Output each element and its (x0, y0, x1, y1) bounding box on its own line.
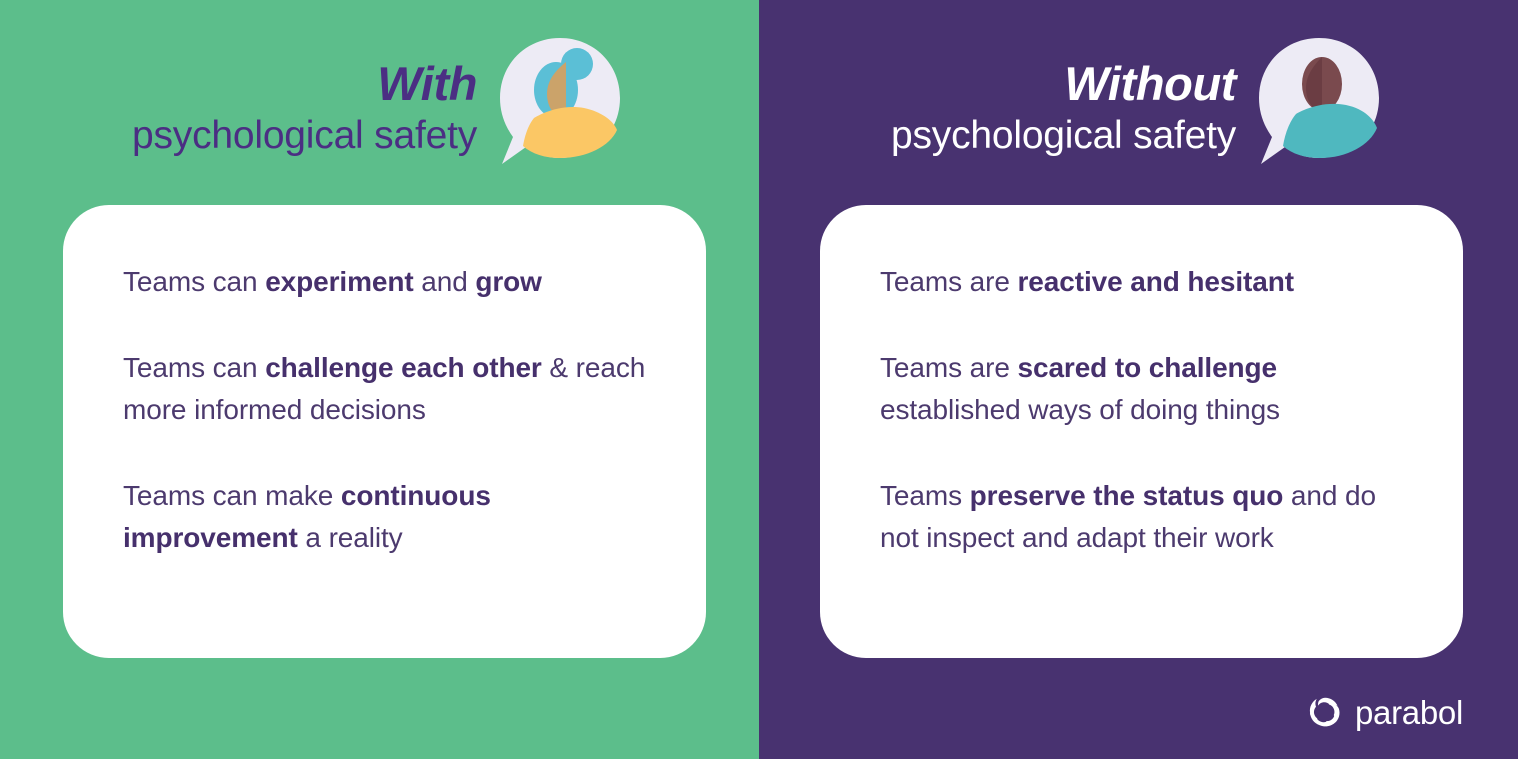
speech-bubble-avatar-icon (499, 38, 627, 166)
statement-emphasis: scared to challenge (1018, 352, 1278, 383)
panel-header-without: Without psychological safety (759, 38, 1518, 188)
statement-text: Teams can (123, 266, 265, 297)
infographic-canvas: With psychological safety Teams can expe… (0, 0, 1518, 759)
statement-emphasis: preserve the status quo (970, 480, 1284, 511)
panel-subtitle-with: psychological safety (132, 111, 477, 161)
panel-header-with: With psychological safety (0, 38, 759, 188)
statement-emphasis: challenge each other (265, 352, 542, 383)
parabol-pinwheel-icon (1308, 695, 1342, 729)
statement-text: Teams can (123, 352, 265, 383)
panel-header-text-without: Without psychological safety (891, 38, 1236, 161)
statement-text: Teams are (880, 266, 1018, 297)
statement-emphasis: grow (475, 266, 541, 297)
parabol-wordmark: parabol (1355, 696, 1463, 729)
speech-bubble-avatar-icon (1258, 38, 1386, 166)
panel-subtitle-without: psychological safety (891, 111, 1236, 161)
parabol-logo: parabol (1308, 695, 1463, 729)
panel-with-psychological-safety: With psychological safety Teams can expe… (0, 0, 759, 759)
card-content-with: Teams can experiment and grow Teams can … (63, 205, 706, 560)
card-without: Teams are reactive and hesitant Teams ar… (820, 205, 1463, 658)
statement-item: Teams preserve the status quo and do not… (880, 475, 1403, 560)
panel-title-without: Without (891, 56, 1236, 111)
statement-item: Teams can experiment and grow (123, 261, 646, 304)
panel-header-text-with: With psychological safety (132, 38, 477, 161)
statement-text: Teams can make (123, 480, 341, 511)
statement-emphasis: reactive and hesitant (1018, 266, 1294, 297)
statement-item: Teams can challenge each other & reach m… (123, 347, 646, 432)
statement-text: a reality (298, 522, 403, 553)
statement-text: and (414, 266, 476, 297)
statement-text: Teams are (880, 352, 1018, 383)
card-with: Teams can experiment and grow Teams can … (63, 205, 706, 658)
panel-without-psychological-safety: Without psychological safety Teams are r… (759, 0, 1518, 759)
statement-item: Teams can make continuous improvement a … (123, 475, 646, 560)
panel-title-with: With (132, 56, 477, 111)
statement-item: Teams are reactive and hesitant (880, 261, 1403, 304)
statement-item: Teams are scared to challenge establishe… (880, 347, 1403, 432)
statement-text: Teams (880, 480, 970, 511)
statement-emphasis: experiment (265, 266, 413, 297)
card-content-without: Teams are reactive and hesitant Teams ar… (820, 205, 1463, 560)
statement-text: established ways of doing things (880, 394, 1280, 425)
